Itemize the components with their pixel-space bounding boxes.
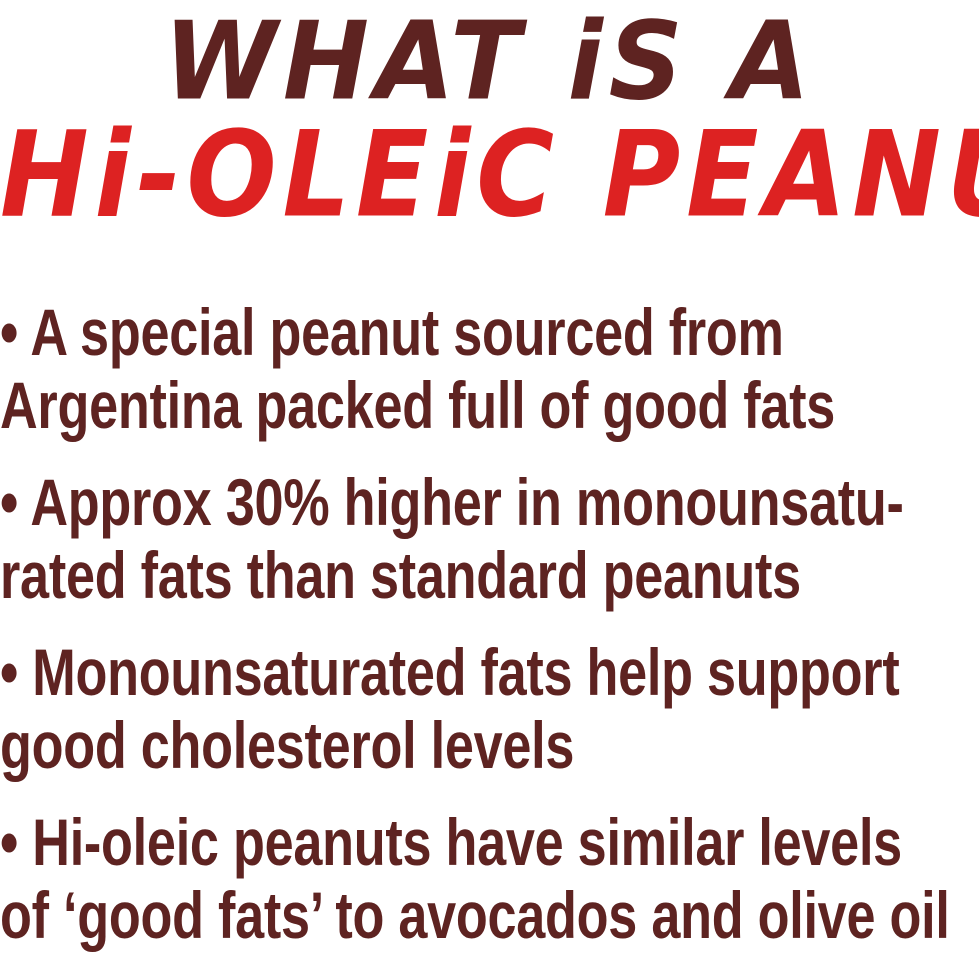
list-item-text: • Hi-oleic peanuts have similar levels o… xyxy=(0,807,979,953)
list-item: • Approx 30% higher in monounsatu- rated… xyxy=(0,467,979,595)
list-item-text: • Monounsaturated fats help support good… xyxy=(0,637,979,783)
page-title-line-1: WHAT iS A xyxy=(0,8,979,116)
list-item: • Hi-oleic peanuts have similar levels o… xyxy=(0,807,979,935)
list-item: • Monounsaturated fats help support good… xyxy=(0,637,979,765)
benefits-list: • A special peanut sourced from Argentin… xyxy=(0,297,979,935)
page-title-line-2: Hi-OLEiC PEANUT? xyxy=(0,116,979,235)
list-item: • A special peanut sourced from Argentin… xyxy=(0,297,979,425)
list-item-text: • Approx 30% higher in monounsatu- rated… xyxy=(0,467,979,613)
hi-oleic-peanut-info-panel: WHAT iS A Hi-OLEiC PEANUT? • A special p… xyxy=(0,0,979,976)
list-item-text: • A special peanut sourced from Argentin… xyxy=(0,297,979,443)
